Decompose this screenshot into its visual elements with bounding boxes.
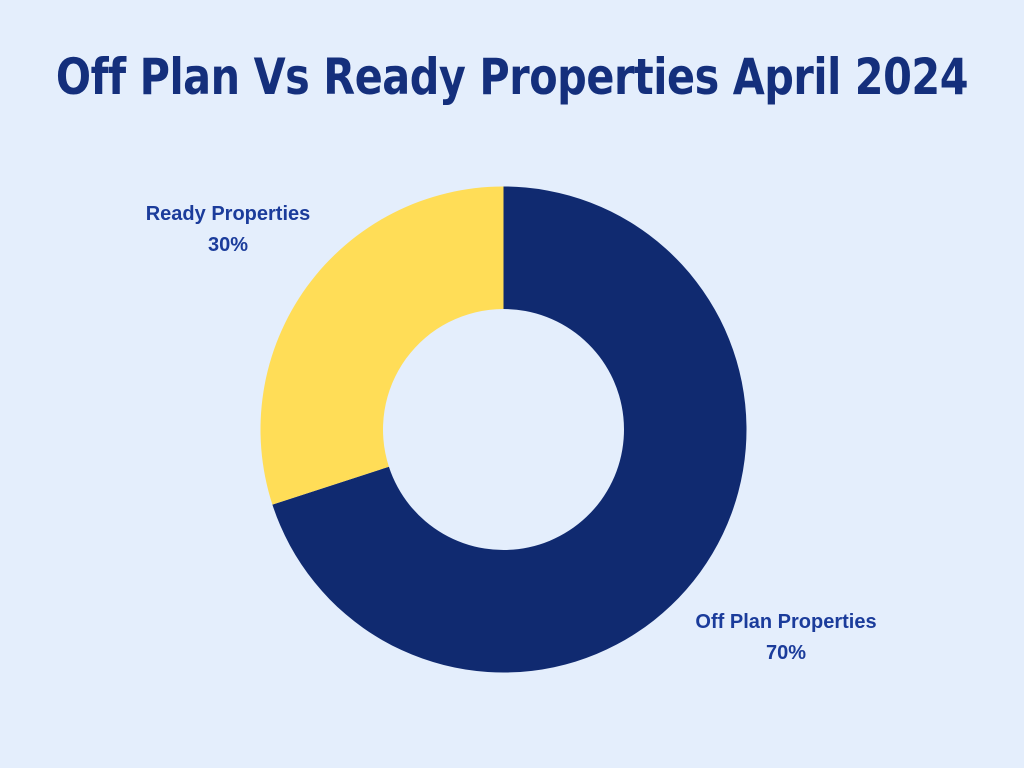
slice-label-off-plan-properties-name: Off Plan Properties	[656, 607, 916, 638]
slice-label-ready-properties-name: Ready Properties	[98, 199, 358, 230]
slice-label-ready-properties-percent: 30%	[98, 230, 358, 261]
slice-label-ready-properties: Ready Properties 30%	[98, 199, 358, 261]
slice-label-off-plan-properties-percent: 70%	[656, 638, 916, 669]
slice-label-off-plan-properties: Off Plan Properties 70%	[656, 607, 916, 669]
chart-canvas: Off Plan Vs Ready Properties April 2024 …	[0, 0, 1024, 768]
